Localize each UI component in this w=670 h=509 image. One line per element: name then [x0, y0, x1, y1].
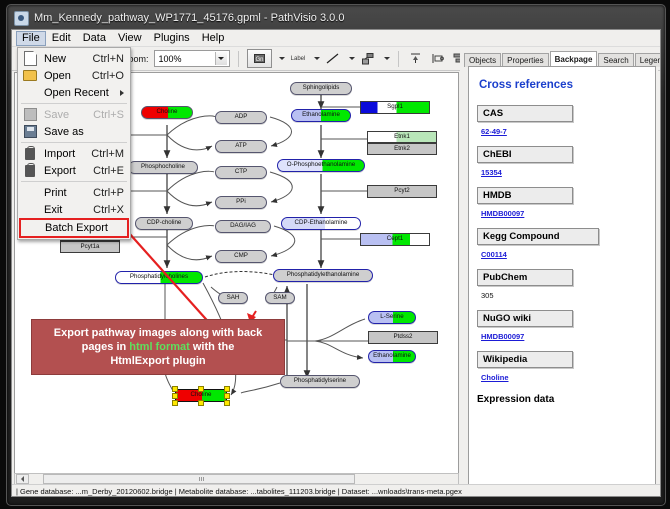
datanode-tool-icon[interactable]: Gn [247, 49, 272, 68]
callout-line-2b: with the [190, 341, 235, 353]
menu-separator-2 [21, 142, 127, 143]
open-folder-icon [20, 68, 40, 83]
zoom-value: 100% [159, 54, 182, 64]
menu-item-label: Open Recent [40, 87, 120, 99]
menu-item-label: Print [40, 187, 93, 199]
blank-icon [20, 185, 40, 200]
zoom-combobox[interactable]: 100% [154, 50, 230, 67]
save-as-icon [20, 124, 40, 139]
nugo-link[interactable]: HMDB00097 [481, 332, 524, 341]
datanode-dropdown-icon[interactable] [279, 57, 285, 60]
menu-item-export[interactable]: Export Ctrl+E [18, 162, 130, 179]
menu-bar: File Edit Data View Plugins Help [12, 30, 661, 47]
value-nugo-wiki: HMDB00097 [481, 332, 647, 341]
menu-item-label: Export [40, 165, 93, 177]
value-chebi: 15354 [481, 168, 647, 177]
menu-item-accel: Ctrl+P [93, 187, 130, 199]
file-menu-popup[interactable]: New Ctrl+N Open Ctrl+O Open Recent Save … [17, 47, 131, 240]
value-kegg-compound: C00114 [481, 250, 647, 259]
blank-icon [21, 221, 41, 236]
right-panel: Objects Properties Backpage Search Legen… [460, 49, 658, 494]
menu-item-accel: Ctrl+O [92, 70, 130, 82]
expression-data-heading: Expression data [477, 394, 647, 405]
menu-item-accel: Ctrl+N [93, 53, 130, 65]
section-pubchem: PubChem [477, 269, 573, 286]
menu-view[interactable]: View [112, 31, 148, 46]
callout-line-2a: pages in [82, 341, 130, 353]
section-wikipedia: Wikipedia [477, 351, 573, 368]
menu-item-label: Import [40, 148, 91, 160]
align-top-icon[interactable] [407, 50, 424, 67]
shape-tool-icon[interactable] [360, 50, 377, 67]
menu-item-print[interactable]: Print Ctrl+P [18, 184, 130, 201]
menu-item-accel: Ctrl+X [93, 204, 130, 216]
label-dropdown-icon[interactable] [314, 57, 320, 60]
tab-legend[interactable]: Legend [635, 53, 661, 67]
menu-item-label: New [40, 53, 93, 65]
value-pubchem: 305 [481, 291, 647, 300]
tab-objects[interactable]: Objects [464, 53, 501, 67]
callout-highlight: html format [129, 341, 190, 353]
cross-references-heading: Cross references [479, 79, 647, 91]
save-disk-icon [20, 107, 40, 122]
status-bar: | Gene database: ...m_Derby_20120602.bri… [12, 484, 661, 497]
value-wikipedia: Choline [481, 373, 647, 382]
toolbar-separator-2 [398, 51, 399, 67]
section-chebi: ChEBI [477, 146, 573, 163]
menu-item-exit[interactable]: Exit Ctrl+X [18, 201, 130, 218]
toolbar-separator [238, 51, 239, 67]
menu-item-label: Exit [40, 204, 93, 216]
menu-item-accel: Ctrl+S [93, 109, 130, 121]
callout-line-2: pages in html format with the [82, 340, 235, 354]
menu-item-label: Save [40, 109, 93, 121]
menu-item-label: Open [40, 70, 92, 82]
backpage-content[interactable]: Cross references CAS 62-49-7 ChEBI 15354… [468, 66, 656, 492]
wikipedia-link[interactable]: Choline [481, 373, 509, 382]
callout-line-3: HtmlExport plugin [110, 354, 205, 368]
chebi-link[interactable]: 15354 [481, 168, 502, 177]
menu-item-open-recent[interactable]: Open Recent [18, 84, 130, 101]
callout-line-1: Export pathway images along with back [54, 326, 262, 340]
menu-item-open[interactable]: Open Ctrl+O [18, 67, 130, 84]
screen-root: Mm_Kennedy_pathway_WP1771_45176.gpml - P… [0, 0, 670, 509]
chevron-down-icon[interactable] [215, 52, 227, 65]
label-tool-icon[interactable]: Label [290, 50, 307, 67]
menu-plugins[interactable]: Plugins [148, 31, 196, 46]
align-left-icon[interactable] [429, 50, 446, 67]
line-dropdown-icon[interactable] [349, 57, 355, 60]
menu-item-new[interactable]: New Ctrl+N [18, 50, 130, 67]
tab-search[interactable]: Search [598, 53, 633, 67]
menu-data[interactable]: Data [77, 31, 112, 46]
hmdb-link[interactable]: HMDB00097 [481, 209, 524, 218]
status-text: | Gene database: ...m_Derby_20120602.bri… [16, 487, 462, 496]
application-area: File Edit Data View Plugins Help Zoom: 1… [11, 29, 661, 497]
value-hmdb: HMDB00097 [481, 209, 647, 218]
menu-file[interactable]: File [16, 31, 46, 46]
window-titlebar[interactable]: Mm_Kennedy_pathway_WP1771_45176.gpml - P… [8, 8, 668, 28]
value-cas: 62-49-7 [481, 127, 647, 136]
section-kegg-compound: Kegg Compound [477, 228, 599, 245]
cas-link[interactable]: 62-49-7 [481, 127, 507, 136]
shape-dropdown-icon[interactable] [384, 57, 390, 60]
export-icon [20, 163, 40, 178]
menu-item-accel: Ctrl+M [91, 148, 130, 160]
new-document-icon [20, 51, 40, 66]
window-title: Mm_Kennedy_pathway_WP1771_45176.gpml - P… [34, 12, 344, 24]
blank-icon [20, 202, 40, 217]
panel-tabstrip: Objects Properties Backpage Search Legen… [464, 51, 658, 67]
section-cas: CAS [477, 105, 573, 122]
menu-edit[interactable]: Edit [46, 31, 77, 46]
menu-item-save-as[interactable]: Save as [18, 123, 130, 140]
menu-item-import[interactable]: Import Ctrl+M [18, 145, 130, 162]
menu-item-label: Batch Export [41, 222, 127, 234]
svg-text:Gn: Gn [255, 57, 263, 63]
section-nugo-wiki: NuGO wiki [477, 310, 573, 327]
tab-properties[interactable]: Properties [502, 53, 548, 67]
menu-item-batch-export-highlight[interactable]: Batch Export [19, 218, 129, 238]
label-tool-text: Label [291, 56, 306, 62]
kegg-link[interactable]: C00114 [481, 250, 507, 259]
line-tool-icon[interactable] [325, 50, 342, 67]
menu-item-accel: Ctrl+E [93, 165, 130, 177]
submenu-arrow-icon [120, 90, 124, 96]
tab-backpage[interactable]: Backpage [550, 51, 598, 67]
menu-separator [21, 103, 127, 104]
annotation-callout: Export pathway images along with back pa… [31, 319, 285, 375]
menu-separator-3 [21, 181, 127, 182]
blank-icon [20, 85, 40, 100]
import-icon [20, 146, 40, 161]
menu-item-label: Save as [40, 126, 124, 138]
scroll-thumb[interactable] [43, 474, 355, 484]
app-icon [14, 11, 29, 26]
menu-help[interactable]: Help [196, 31, 231, 46]
section-hmdb: HMDB [477, 187, 573, 204]
menu-item-save[interactable]: Save Ctrl+S [18, 106, 130, 123]
scroll-left-arrow-icon[interactable] [16, 474, 29, 484]
